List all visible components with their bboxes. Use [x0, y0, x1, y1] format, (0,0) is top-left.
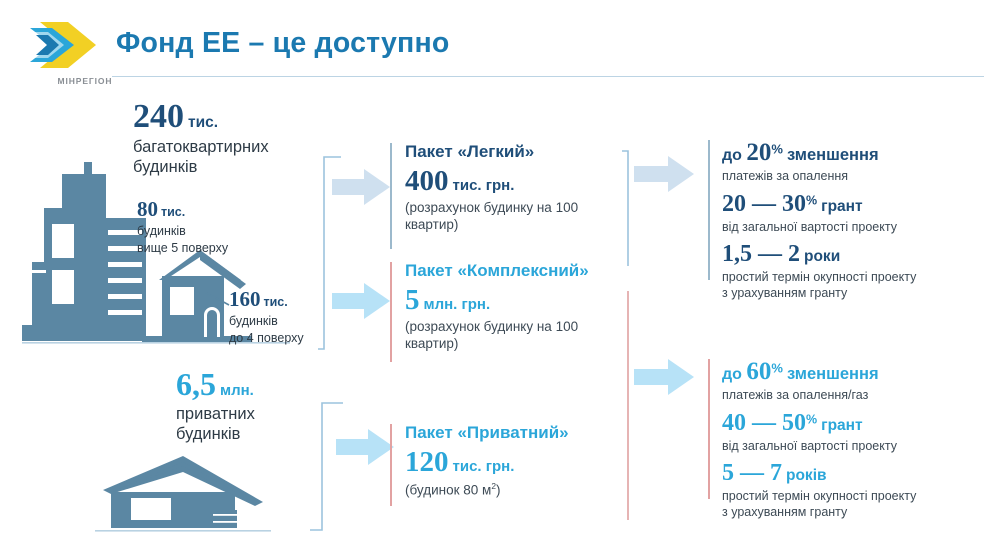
stat-low-rise-number: 160	[229, 287, 261, 311]
stat-apartments-unit: тис.	[188, 114, 218, 131]
package-private-note-1: (будинок 80 м	[405, 482, 491, 497]
chevron-logo-icon	[22, 18, 108, 80]
package-easy-title: Пакет «Легкий»	[405, 143, 620, 162]
package-accent-bar	[390, 262, 392, 362]
result-bottom-reduction-word: зменшення	[787, 365, 879, 383]
page-title: Фонд ЕЕ – це доступно	[116, 27, 449, 60]
bracket-private	[310, 402, 344, 532]
result-card-bottom: до 60%зменшення платежів за опалення/газ…	[708, 359, 984, 499]
result-top-reduction-value: 20	[746, 139, 771, 166]
package-private-note-tail: )	[496, 482, 501, 497]
package-private-amount-unit: тис. грн.	[453, 458, 515, 475]
result-bottom-reduction-caption: платежів за опалення/газ	[722, 387, 984, 403]
package-card-private[interactable]: Пакет «Приватний» 120тис. грн. (будинок …	[390, 424, 620, 506]
result-top-grant-caption: від загальної вартості проекту	[722, 219, 984, 235]
arrow-to-package-complex	[332, 282, 392, 320]
package-easy-amount-unit: тис. грн.	[453, 177, 515, 194]
package-complex-amount-unit: млн. грн.	[424, 296, 491, 313]
logo-wordmark: МІНРЕГІОН	[46, 76, 124, 86]
arrow-to-package-easy	[332, 168, 392, 206]
package-complex-title: Пакет «Комплексний»	[405, 262, 635, 281]
bracket-result-bottom	[622, 290, 646, 522]
stat-high-rise-line2: вище 5 поверху	[137, 240, 297, 257]
arrow-to-package-private	[336, 428, 396, 466]
result-bottom-payback-caption-1: простий термін окупності проекту	[722, 488, 984, 504]
package-card-easy[interactable]: Пакет «Легкий» 400тис. грн. (розрахунок …	[390, 143, 620, 249]
package-complex-note-1: (розрахунок будинку на 100	[405, 319, 635, 336]
result-top-reduction-prefix: до	[722, 147, 742, 164]
result-bottom-grant-word: грант	[821, 417, 863, 434]
leader-line-low-rise	[205, 292, 231, 306]
result-top-reduction-word: зменшення	[787, 146, 879, 164]
result-accent-bar	[708, 359, 710, 499]
stat-private-line1: приватних	[176, 404, 376, 424]
stat-high-rise-line1: будинків	[137, 223, 297, 240]
package-complex-amount: 5	[405, 284, 420, 316]
result-bottom-grant-pct: %	[806, 412, 817, 426]
result-bottom-payback-caption-2: з урахуванням гранту	[722, 504, 984, 520]
stat-high-rise-number: 80	[137, 197, 158, 221]
title-divider	[112, 76, 984, 77]
result-top-grant-range: 20 — 30	[722, 191, 806, 217]
slide-canvas: МІНРЕГІОН Фонд ЕЕ – це доступно 240тис. …	[0, 0, 1000, 558]
stat-high-rise: 80тис. будинків вище 5 поверху	[137, 199, 297, 256]
result-top-payback-word: роки	[804, 248, 840, 265]
package-easy-note-2: квартир)	[405, 217, 620, 234]
arrow-to-result-bottom	[634, 358, 696, 396]
result-top-payback-caption-1: простий термін окупності проекту	[722, 269, 984, 285]
result-top-grant-word: грант	[821, 198, 863, 215]
result-top-payback-caption-2: з урахуванням гранту	[722, 285, 984, 301]
result-bottom-grant-range: 40 — 50	[722, 410, 806, 436]
result-top-reduction-caption: платежів за опалення	[722, 168, 984, 184]
package-private-title: Пакет «Приватний»	[405, 424, 620, 443]
result-top-reduction-pct: %	[771, 142, 783, 157]
package-easy-note-1: (розрахунок будинку на 100	[405, 200, 620, 217]
package-private-amount: 120	[405, 446, 449, 478]
stat-private-number: 6,5	[176, 366, 216, 402]
result-top-grant-pct: %	[806, 193, 817, 207]
package-card-complex[interactable]: Пакет «Комплексний» 5млн. грн. (розрахун…	[390, 262, 635, 362]
result-bottom-reduction-value: 60	[746, 358, 771, 385]
stat-low-rise-unit: тис.	[264, 295, 288, 309]
result-bottom-payback-word: років	[786, 467, 827, 484]
stat-apartments-line1: багатоквартирних	[133, 137, 338, 157]
result-bottom-reduction-pct: %	[771, 361, 783, 376]
arrow-to-result-top	[634, 155, 696, 193]
private-house-illustration	[95, 440, 275, 545]
stat-apartments-number: 240	[133, 98, 184, 135]
result-bottom-grant-caption: від загальної вартості проекту	[722, 438, 984, 454]
stat-high-rise-unit: тис.	[161, 205, 185, 219]
result-accent-bar	[708, 140, 710, 280]
stat-private-unit: млн.	[220, 382, 254, 399]
package-easy-amount: 400	[405, 165, 449, 197]
result-top-payback-value: 1,5 — 2	[722, 241, 800, 267]
package-accent-bar	[390, 424, 392, 506]
package-complex-note-2: квартир)	[405, 336, 635, 353]
result-bottom-reduction-prefix: до	[722, 366, 742, 383]
result-bottom-payback-value: 5 — 7	[722, 460, 782, 486]
result-card-top: до 20%зменшення платежів за опалення 20 …	[708, 140, 984, 280]
package-accent-bar	[390, 143, 392, 249]
minregion-logo: МІНРЕГІОН	[22, 18, 108, 88]
stat-low-rise-line2: до 4 поверху	[229, 330, 389, 347]
